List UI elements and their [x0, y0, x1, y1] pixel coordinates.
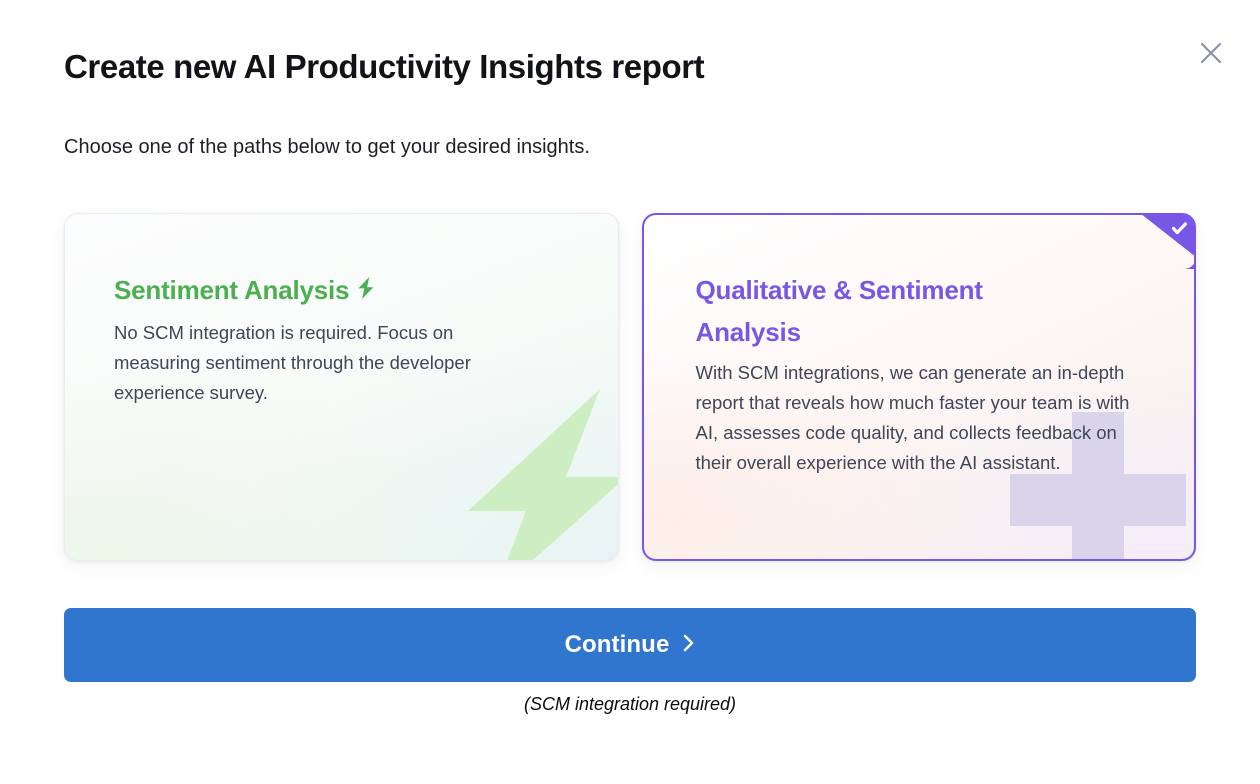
lightning-bolt-decoration-icon — [450, 385, 619, 561]
option-card-qualitative-sentiment-analysis[interactable]: Qualitative & Sentiment Analysis With SC… — [642, 213, 1197, 561]
close-icon — [1198, 40, 1224, 66]
option-card-body: Qualitative & Sentiment Analysis With SC… — [644, 215, 1195, 478]
scm-requirement-note: (SCM integration required) — [0, 694, 1260, 715]
option-card-description: With SCM integrations, we can generate a… — [696, 358, 1136, 478]
chevron-right-icon — [682, 632, 695, 660]
dialog-subtitle: Choose one of the paths below to get you… — [64, 132, 590, 162]
continue-button-label: Continue — [565, 631, 670, 659]
option-card-body: Sentiment Analysis No SCM integration is… — [65, 214, 618, 408]
path-options: Sentiment Analysis No SCM integration is… — [64, 213, 1196, 561]
option-card-sentiment-analysis[interactable]: Sentiment Analysis No SCM integration is… — [64, 213, 619, 561]
dialog-title: Create new AI Productivity Insights repo… — [64, 45, 704, 89]
option-card-description: No SCM integration is required. Focus on… — [114, 318, 534, 408]
option-card-title-text: Sentiment Analysis — [114, 275, 349, 305]
option-card-title: Sentiment Analysis — [114, 269, 376, 312]
continue-button[interactable]: Continue — [64, 608, 1196, 682]
close-icon-button[interactable] — [1194, 36, 1228, 70]
option-card-title: Qualitative & Sentiment Analysis — [696, 269, 1056, 353]
lightning-bolt-icon — [356, 270, 376, 312]
create-report-dialog: Create new AI Productivity Insights repo… — [0, 0, 1260, 784]
